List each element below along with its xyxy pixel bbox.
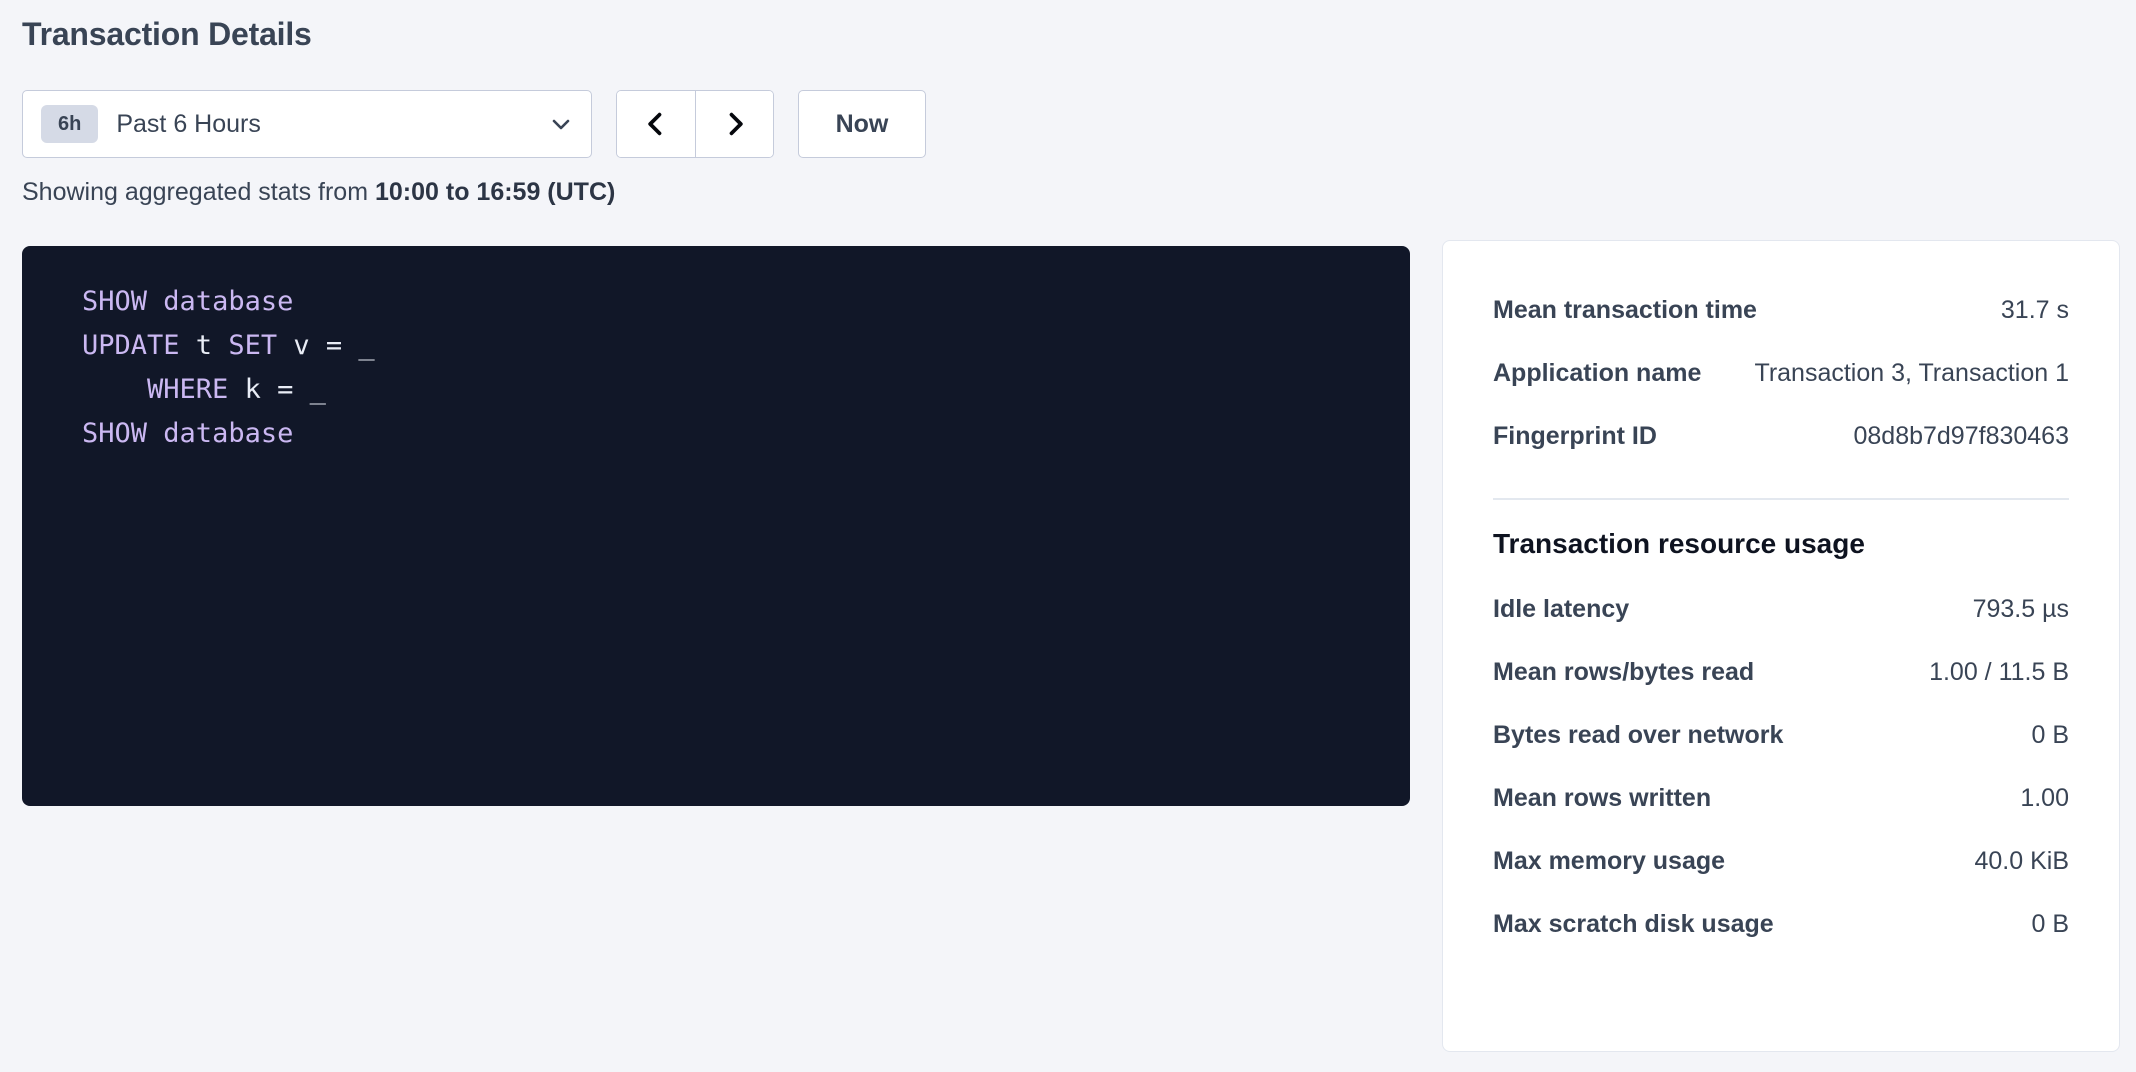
transaction-details-page: Transaction Details 6h Past 6 Hours <box>0 0 2136 1072</box>
stat-value: Transaction 3, Transaction 1 <box>1754 359 2069 388</box>
section-divider <box>1493 498 2069 500</box>
next-period-button[interactable] <box>695 91 773 157</box>
stat-value: 0 B <box>2031 910 2069 939</box>
code-line: WHERE k = _ <box>82 368 1410 412</box>
time-range-select[interactable]: 6h Past 6 Hours <box>22 90 592 158</box>
stat-label: Fingerprint ID <box>1493 422 1657 451</box>
code-line: SHOW database <box>82 412 1410 456</box>
stat-value: 40.0 KiB <box>1974 847 2069 876</box>
code-keyword: SET <box>228 330 277 361</box>
stat-label: Max scratch disk usage <box>1493 910 1774 939</box>
stat-label: Max memory usage <box>1493 847 1725 876</box>
stat-value: 1.00 / 11.5 B <box>1929 658 2069 687</box>
aggregation-range-prefix: Showing aggregated stats from <box>22 178 375 206</box>
code-keyword: SHOW <box>82 418 147 449</box>
stat-row: Mean rows/bytes read1.00 / 11.5 B <box>1493 641 2069 704</box>
code-keyword: UPDATE <box>82 330 180 361</box>
stat-row: Application nameTransaction 3, Transacti… <box>1493 342 2069 405</box>
code-identifier <box>147 418 163 449</box>
stat-label: Application name <box>1493 359 1701 388</box>
stat-row: Max memory usage40.0 KiB <box>1493 830 2069 893</box>
stat-label: Mean rows/bytes read <box>1493 658 1754 687</box>
resource-stats-list: Idle latency793.5 µsMean rows/bytes read… <box>1493 578 2069 956</box>
time-range-label: Past 6 Hours <box>116 110 549 139</box>
stat-row: Max scratch disk usage0 B <box>1493 893 2069 956</box>
stat-value: 1.00 <box>2020 784 2069 813</box>
code-identifier <box>147 286 163 317</box>
sql-code-block: SHOW databaseUPDATE t SET v = _ WHERE k … <box>22 280 1410 456</box>
chevron-down-icon <box>549 112 573 136</box>
resource-usage-heading: Transaction resource usage <box>1493 526 2069 578</box>
code-identifier <box>82 374 147 405</box>
code-identifier: v = _ <box>277 330 375 361</box>
previous-period-button[interactable] <box>617 91 695 157</box>
stat-value: 793.5 µs <box>1973 595 2069 624</box>
now-button[interactable]: Now <box>798 90 926 158</box>
stat-row: Fingerprint ID08d8b7d97f830463 <box>1493 405 2069 468</box>
stat-row: Mean rows written1.00 <box>1493 767 2069 830</box>
transaction-stats-card: Mean transaction time31.7 sApplication n… <box>1442 240 2120 1052</box>
code-line: SHOW database <box>82 280 1410 324</box>
stat-label: Mean rows written <box>1493 784 1711 813</box>
code-keyword: database <box>163 418 293 449</box>
time-range-badge: 6h <box>41 105 98 143</box>
aggregation-range-text: Showing aggregated stats from 10:00 to 1… <box>22 178 615 207</box>
stat-label: Bytes read over network <box>1493 721 1783 750</box>
sql-code-panel[interactable]: SHOW databaseUPDATE t SET v = _ WHERE k … <box>22 246 1410 806</box>
time-nav-button-group <box>616 90 774 158</box>
time-range-toolbar: 6h Past 6 Hours <box>22 90 926 158</box>
stat-row: Mean transaction time31.7 s <box>1493 279 2069 342</box>
code-keyword: database <box>163 286 293 317</box>
stat-value: 0 B <box>2031 721 2069 750</box>
summary-stats-list: Mean transaction time31.7 sApplication n… <box>1493 279 2069 468</box>
page-title: Transaction Details <box>22 16 312 53</box>
code-identifier: k = _ <box>228 374 326 405</box>
aggregation-range-value: 10:00 to 16:59 (UTC) <box>375 178 615 206</box>
stat-label: Idle latency <box>1493 595 1629 624</box>
stat-row: Idle latency793.5 µs <box>1493 578 2069 641</box>
code-keyword: SHOW <box>82 286 147 317</box>
chevron-left-icon <box>642 110 670 138</box>
stat-value: 31.7 s <box>2001 296 2069 325</box>
code-identifier: t <box>180 330 229 361</box>
code-line: UPDATE t SET v = _ <box>82 324 1410 368</box>
code-keyword: WHERE <box>147 374 228 405</box>
stat-row: Bytes read over network0 B <box>1493 704 2069 767</box>
stat-label: Mean transaction time <box>1493 296 1757 325</box>
stat-value: 08d8b7d97f830463 <box>1853 422 2069 451</box>
chevron-right-icon <box>721 110 749 138</box>
